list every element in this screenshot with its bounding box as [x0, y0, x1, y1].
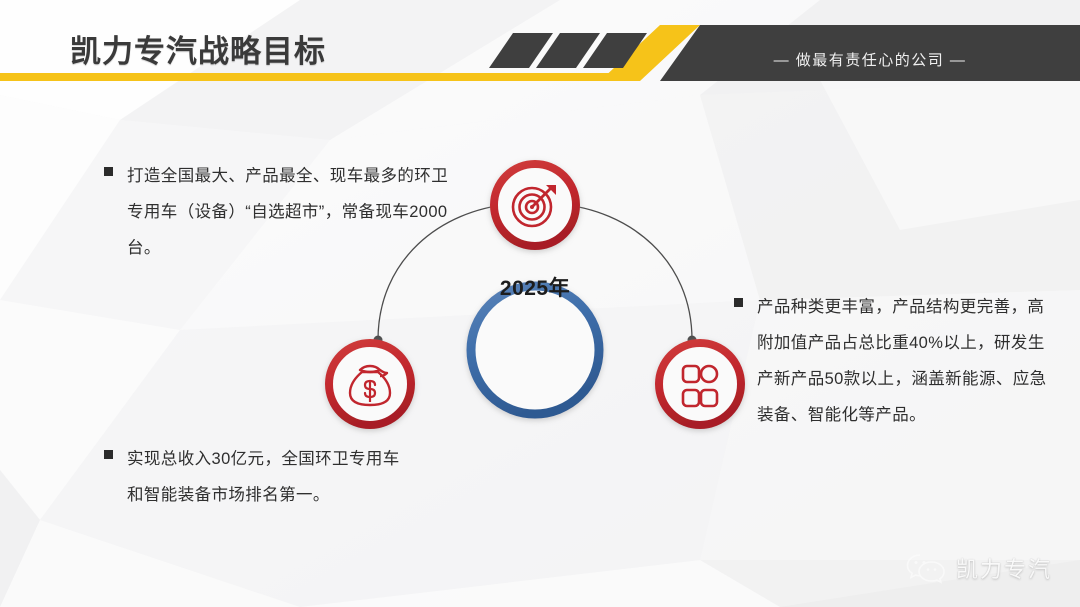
wechat-icon: [906, 551, 946, 585]
node-grid: [659, 343, 741, 425]
bullet-square-icon: [104, 167, 113, 176]
page-title: 凯力专汽战略目标: [70, 26, 326, 71]
bullet-item-right: 产品种类更丰富，产品结构更完善，高附加值产品占总比重40%以上，研发生产新产品5…: [734, 289, 1052, 433]
node-money: [329, 343, 411, 425]
center-year-node: [471, 286, 599, 414]
bullet-text-right: 产品种类更丰富，产品结构更完善，高附加值产品占总比重40%以上，研发生产新产品5…: [757, 289, 1052, 433]
bullet-text-bottom-left: 实现总收入30亿元，全国环卫专用车和智能装备市场排名第一。: [127, 441, 404, 513]
center-year-label: 2025年: [300, 272, 770, 302]
watermark: 凯力专汽: [906, 551, 1052, 585]
watermark-text: 凯力专汽: [956, 552, 1052, 584]
strategy-diagram: 2025年: [300, 140, 770, 450]
bullet-item-bottom-left: 实现总收入30亿元，全国环卫专用车和智能装备市场排名第一。: [104, 441, 404, 513]
slide-header: 凯力专汽战略目标 — 做最有责任心的公司 —: [0, 0, 1080, 95]
header-slogan: — 做最有责任心的公司 —: [700, 49, 1040, 70]
yellow-rule: [0, 73, 640, 81]
slide-canvas: 凯力专汽战略目标 — 做最有责任心的公司 — 打造全国最大、产品最全、现车最多的…: [0, 0, 1080, 607]
node-target: [494, 164, 576, 246]
bullet-square-icon: [104, 450, 113, 459]
